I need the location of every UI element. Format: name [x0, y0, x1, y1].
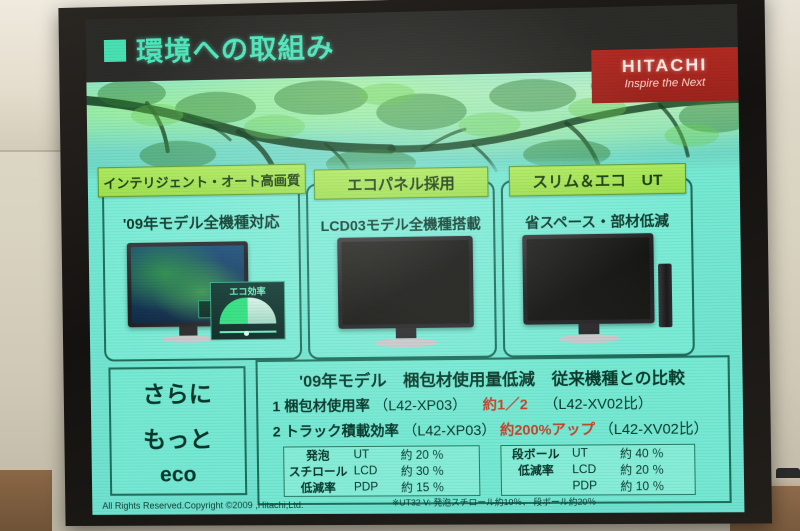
- cardboard-key-pdp: PDP: [570, 478, 618, 495]
- gauge-slider-knob: [244, 331, 249, 336]
- tv-illustration-3: [522, 233, 655, 344]
- cardboard-label-line-1: 段ボール: [501, 446, 570, 463]
- hitachi-logo: HITACHI Inspire the Next: [591, 47, 738, 103]
- feature-panels: インテリジェント・オート高画質 '09年モデル全機種対応 エコ効率: [88, 158, 743, 360]
- panel-eco-panel: エコパネル採用 LCD03モデル全機種搭載: [306, 181, 497, 360]
- panel-slim-eco-ut: スリム＆エコ UT 省スペース・部材低減: [501, 177, 695, 357]
- cardboard-value-lcd: 約 20 ％: [618, 461, 695, 478]
- comparison-footnote: ※UT32 V: 発泡スチロール約10％、 段ボール約20％: [392, 495, 596, 508]
- cardboard-label-spacer: [502, 478, 571, 495]
- tv-1-stand-neck: [179, 326, 197, 335]
- tv-3-stand-neck: [578, 324, 599, 334]
- presentation-slide: 環境への取組み HITACHI Inspire the Next: [86, 4, 745, 515]
- styrofoam-label-line-2: スチロール: [284, 463, 351, 480]
- row-1-reference: （L42-XV02比）: [544, 395, 653, 412]
- row-2-label: トラック積載効率: [284, 422, 399, 439]
- hitachi-wordmark: HITACHI: [591, 54, 738, 78]
- styrofoam-key-lcd: LCD: [352, 463, 399, 479]
- cardboard-key-ut: UT: [570, 445, 618, 462]
- table-row: PDP 約 10 ％: [502, 478, 695, 495]
- cardboard-reduction-table: 段ボール UT 約 40 ％ 低減率 LCD 約 20 ％ PDP 約: [500, 444, 695, 496]
- tv-2-screen: [341, 240, 469, 325]
- eco-efficiency-label: エコ効率: [211, 284, 284, 298]
- row-2-value: 約200%アップ: [500, 421, 595, 438]
- title-bullet-square-icon: [104, 40, 126, 63]
- row-2-reference: （L42-XV02比）: [599, 420, 708, 437]
- row-1-value: 約1／2: [483, 396, 528, 413]
- cardboard-value-pdp: 約 10 ％: [618, 478, 695, 495]
- table-row: 低減率 LCD 約 20 ％: [502, 461, 695, 478]
- panel-2-tab: エコパネル採用: [314, 166, 489, 199]
- styrofoam-key-ut: UT: [351, 447, 398, 464]
- eco-slogan-box: さらに もっと eco: [108, 366, 247, 496]
- tuner-tower-unit: [658, 264, 673, 328]
- eco-slogan-line-2: もっと: [143, 420, 213, 455]
- row-1-model: （L42-XP03）: [374, 397, 467, 414]
- gauge-empty-arc: [248, 297, 277, 324]
- row-2-number: 2: [273, 423, 281, 439]
- hitachi-tagline: Inspire the Next: [592, 76, 739, 91]
- cardboard-label-line-2: 低減率: [502, 462, 571, 479]
- eco-efficiency-inset: エコ効率: [210, 281, 286, 340]
- styrofoam-value-pdp: 約 15 ％: [399, 479, 479, 496]
- tv-3-frame: [522, 233, 654, 325]
- packaging-comparison-box: '09年モデル 梱包材使用量低減 従来機種との比較 1 梱包材使用率 （L42-…: [255, 355, 731, 505]
- tv-3-screen: [526, 237, 650, 320]
- row-1-label: 梱包材使用率: [284, 397, 370, 414]
- slide-copyright: All Rights Reserved.Copyright ©2009 ,Hit…: [102, 500, 303, 511]
- projection-screen-bezel: 環境への取組み HITACHI Inspire the Next: [58, 0, 772, 526]
- row-1-number: 1: [272, 398, 280, 414]
- panel-3-tab: スリム＆エコ UT: [509, 163, 686, 197]
- tv-1-stand-base: [161, 335, 216, 343]
- panel-3-caption: 省スペース・部材低減: [503, 210, 691, 233]
- left-cabinet: [0, 470, 52, 531]
- comparison-row-2: 2 トラック積載効率 （L42-XP03） 約200%アップ （L42-XV02…: [273, 418, 709, 442]
- eco-slogan-line-1: さらに: [142, 375, 212, 410]
- comparison-title: '09年モデル 梱包材使用量低減 従来機種との比較: [258, 363, 728, 392]
- tv-3-stand-base: [559, 334, 619, 344]
- panel-1-tab: インテリジェント・オート高画質: [98, 164, 306, 198]
- table-row: 発泡 UT 約 20 ％: [284, 446, 479, 463]
- eco-slogan-line-3: eco: [160, 463, 197, 487]
- gauge-filled-arc: [219, 298, 248, 325]
- tv-2-stand-base: [374, 338, 438, 348]
- panel-2-caption: LCD03モデル全機種搭載: [308, 213, 493, 236]
- cardboard-value-ut: 約 40 ％: [618, 445, 695, 462]
- panel-intelligent-auto: インテリジェント・オート高画質 '09年モデル全機種対応 エコ効率: [102, 184, 302, 362]
- styrofoam-value-lcd: 約 30 ％: [399, 462, 479, 479]
- slide-title: 環境への取組み: [136, 26, 335, 70]
- desk-phone: [776, 468, 800, 478]
- eco-efficiency-gauge: [219, 297, 276, 324]
- table-row: 段ボール UT 約 40 ％: [501, 445, 694, 463]
- projection-screen: 環境への取組み HITACHI Inspire the Next: [86, 4, 745, 515]
- table-row: スチロール LCD 約 30 ％: [284, 462, 479, 479]
- tv-2-frame: [337, 236, 474, 329]
- styrofoam-label-line-1: 発泡: [284, 447, 351, 464]
- styrofoam-value-ut: 約 20 ％: [398, 446, 478, 463]
- tv-illustration-2: [337, 236, 474, 348]
- cardboard-key-lcd: LCD: [570, 462, 618, 479]
- table-row: 低減率 PDP 約 15 ％: [285, 479, 480, 496]
- styrofoam-label-line-3: 低減率: [285, 479, 352, 496]
- tv-2-stand-neck: [396, 328, 417, 338]
- styrofoam-key-pdp: PDP: [352, 479, 399, 495]
- panel-1-caption: '09年モデル全機種対応: [104, 210, 298, 234]
- styrofoam-reduction-table: 発泡 UT 約 20 ％ スチロール LCD 約 30 ％ 低減率 PDP: [283, 445, 480, 497]
- comparison-row-1: 1 梱包材使用率 （L42-XP03） 約1／2 （L42-XV02比）: [272, 393, 652, 416]
- row-2-model: （L42-XP03）: [403, 422, 496, 439]
